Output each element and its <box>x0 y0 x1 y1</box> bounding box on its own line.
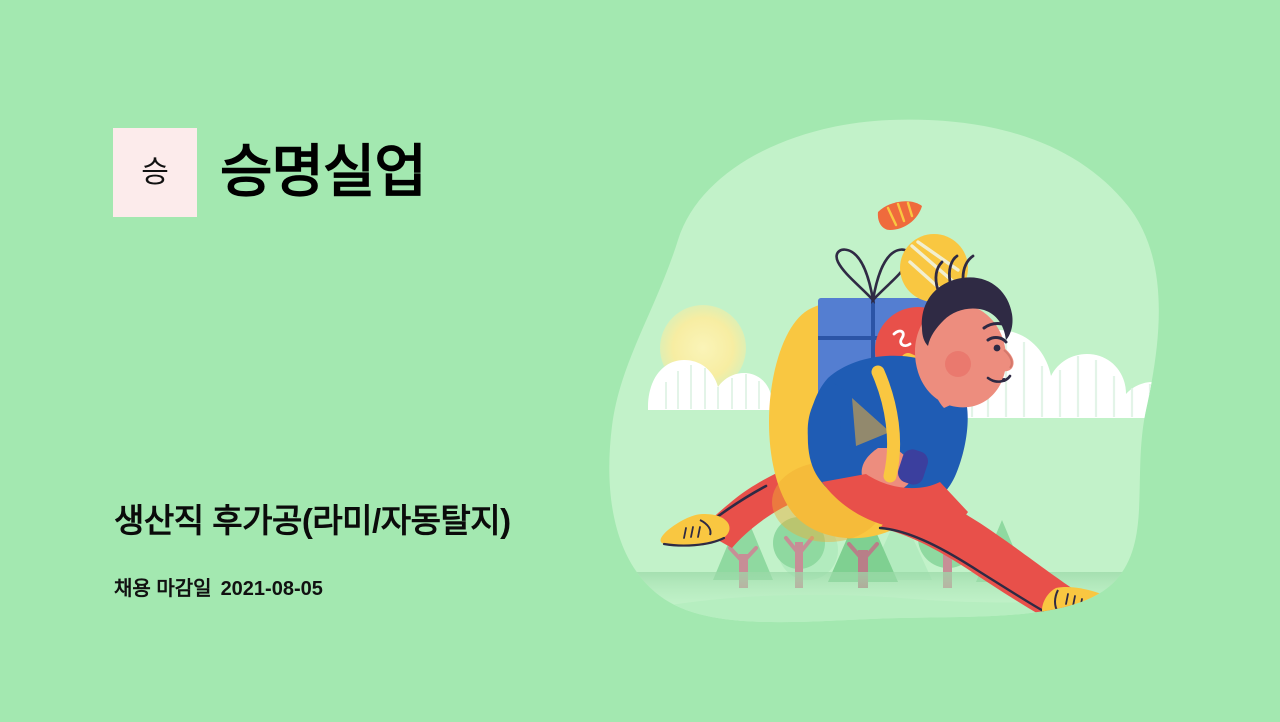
company-name: 승명실업 <box>220 144 426 201</box>
running-delivery-man-illustration <box>560 110 1200 670</box>
company-logo-character: 승 <box>141 158 169 188</box>
job-title: 생산직 후가공(라미/자동탈지) <box>114 501 511 541</box>
deadline-row: 채용 마감일2021-08-05 <box>114 577 323 601</box>
front-shoe <box>1042 587 1131 628</box>
deadline-date: 2021-08-05 <box>221 578 323 600</box>
company-header: 승 승명실업 <box>113 128 426 217</box>
company-logo-badge: 승 <box>113 128 197 217</box>
job-posting-card: 승 승명실업 생산직 후가공(라미/자동탈지) 채용 마감일2021-08-05 <box>0 0 1280 722</box>
deadline-label: 채용 마감일 <box>114 578 212 600</box>
